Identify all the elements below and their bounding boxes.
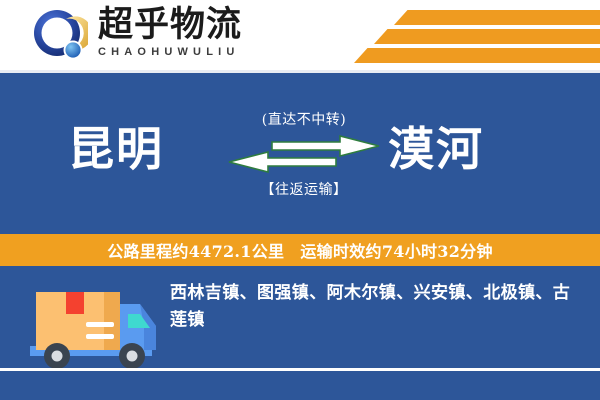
stripe-2 [374, 29, 600, 44]
coverage-section: 西林吉镇、图强镇、阿木尔镇、兴安镇、北极镇、古莲镇 [0, 266, 600, 400]
brand-lockup: 超乎物流 CHAOHUWULIU [98, 6, 268, 58]
destination-city: 漠河 [388, 121, 484, 177]
route-info-bar: 公路里程约4472.1公里 运输时效约74小时32分钟 [0, 234, 600, 266]
brand-name-pinyin: CHAOHUWULIU [98, 46, 268, 58]
circle-crescent-logo-icon [32, 8, 88, 64]
roundtrip-note: 【往返运输】 [228, 179, 380, 199]
route-middle: (直达不中转) 【往返运输】 [228, 109, 380, 199]
stripe-3 [354, 48, 600, 63]
covered-towns-list: 西林吉镇、图强镇、阿木尔镇、兴安镇、北极镇、古莲镇 [170, 280, 582, 334]
route-section: 昆明 (直达不中转) 【往返运输】 漠河 [0, 73, 600, 232]
direct-route-note: (直达不中转) [228, 109, 380, 129]
distance-text: 公路里程约4472.1公里 [107, 238, 284, 262]
origin-city: 昆明 [68, 121, 164, 177]
bottom-divider [0, 368, 600, 371]
double-headed-arrow-icon [228, 135, 380, 173]
stripe-1 [394, 10, 600, 25]
banner-header: 超乎物流 CHAOHUWULIU [0, 0, 600, 70]
duration-text: 运输时效约74小时32分钟 [300, 238, 492, 262]
brand-name-cn: 超乎物流 [98, 6, 268, 44]
decorative-stripes [330, 0, 600, 70]
logistics-route-banner: 超乎物流 CHAOHUWULIU 昆明 (直达不中转) 【往返运输】 [0, 0, 600, 400]
delivery-truck-icon [24, 278, 164, 374]
